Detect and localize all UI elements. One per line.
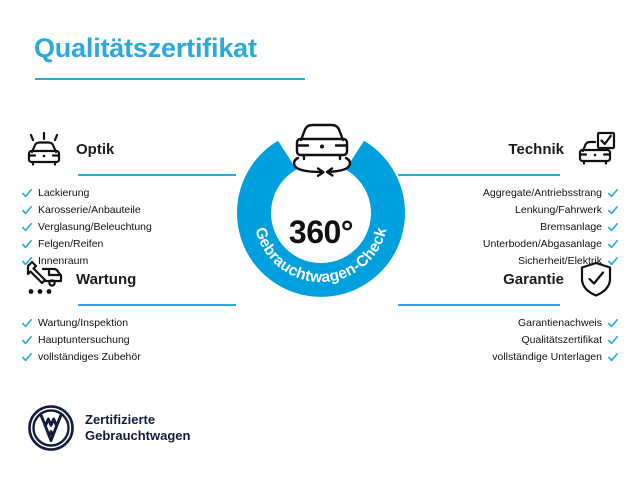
badge-center-label: 360° — [225, 214, 417, 251]
car-checkbox-icon — [574, 129, 618, 169]
list-item: Hauptuntersuchung — [22, 332, 237, 349]
list-item: Karosserie/Anbauteile — [22, 202, 237, 219]
section-garantie: Garantie Garantienachweis Qualitätszerti… — [398, 258, 618, 366]
section-wartung: Wartung Wartung/Inspektion Hauptuntersuc… — [22, 258, 237, 366]
list-item: Unterboden/Abgasanlage — [398, 236, 618, 253]
check-icon — [22, 188, 32, 199]
check-icon — [608, 222, 618, 233]
car-shine-icon — [22, 129, 66, 169]
list-item: vollständige Unterlagen — [398, 349, 618, 366]
section-wartung-title: Wartung — [76, 271, 136, 288]
section-technik-header: Technik — [398, 128, 618, 170]
check-icon — [608, 239, 618, 250]
section-optik-header: Optik — [22, 128, 237, 170]
list-item-label: Hauptuntersuchung — [38, 332, 130, 349]
list-item: vollständiges Zubehör — [22, 349, 237, 366]
section-wartung-rule — [78, 304, 236, 306]
list-item-label: Verglasung/Beleuchtung — [38, 219, 152, 236]
list-item-label: Bremsanlage — [540, 219, 602, 236]
section-technik-rule — [398, 174, 560, 176]
section-wartung-list: Wartung/Inspektion Hauptuntersuchung vol… — [22, 315, 237, 366]
section-wartung-header: Wartung — [22, 258, 237, 300]
page-title: Qualitätszertifikat — [34, 33, 257, 64]
volkswagen-logo — [28, 405, 74, 451]
list-item: Garantienachweis — [398, 315, 618, 332]
footer-brand: Zertifizierte Gebrauchtwagen — [28, 405, 190, 451]
section-optik-title: Optik — [76, 141, 114, 158]
check-icon — [22, 335, 32, 346]
list-item-label: Aggregate/Antriebsstrang — [483, 185, 602, 202]
list-item-label: vollständige Unterlagen — [492, 349, 602, 366]
list-item-label: Lenkung/Fahrwerk — [515, 202, 602, 219]
list-item: Wartung/Inspektion — [22, 315, 237, 332]
check-icon — [22, 318, 32, 329]
list-item: Lenkung/Fahrwerk — [398, 202, 618, 219]
list-item-label: Qualitätszertifikat — [521, 332, 602, 349]
list-item: Felgen/Reifen — [22, 236, 237, 253]
section-technik-title: Technik — [508, 141, 564, 158]
check-icon — [608, 352, 618, 363]
check-icon — [22, 205, 32, 216]
section-garantie-list: Garantienachweis Qualitätszertifikat vol… — [398, 315, 618, 366]
list-item-label: vollständiges Zubehör — [38, 349, 141, 366]
list-item: Aggregate/Antriebsstrang — [398, 185, 618, 202]
badge-360-gebrauchtwagen-check: Gebrauchtwagen-Check 360° — [225, 118, 417, 313]
list-item: Bremsanlage — [398, 219, 618, 236]
list-item-label: Felgen/Reifen — [38, 236, 103, 253]
title-underline — [35, 78, 305, 80]
list-item: Qualitätszertifikat — [398, 332, 618, 349]
footer-brand-text: Zertifizierte Gebrauchtwagen — [85, 412, 190, 444]
list-item: Lackierung — [22, 185, 237, 202]
list-item-label: Wartung/Inspektion — [38, 315, 128, 332]
car-rotate-360-icon — [284, 118, 360, 180]
section-technik: Technik Aggregate/Antriebsstrang Lenkung… — [398, 128, 618, 270]
list-item-label: Unterboden/Abgasanlage — [483, 236, 602, 253]
section-garantie-header: Garantie — [398, 258, 618, 300]
check-icon — [22, 352, 32, 363]
section-optik-rule — [78, 174, 236, 176]
list-item-label: Lackierung — [38, 185, 89, 202]
check-icon — [608, 188, 618, 199]
section-garantie-rule — [398, 304, 560, 306]
list-item: Verglasung/Beleuchtung — [22, 219, 237, 236]
check-icon — [608, 318, 618, 329]
shield-check-icon — [574, 259, 618, 299]
check-icon — [22, 222, 32, 233]
list-item-label: Karosserie/Anbauteile — [38, 202, 141, 219]
section-optik: Optik Lackierung Karosserie/Anbauteile V… — [22, 128, 237, 270]
check-icon — [608, 205, 618, 216]
car-wrench-service-icon — [22, 259, 66, 299]
section-garantie-title: Garantie — [503, 271, 564, 288]
check-icon — [22, 239, 32, 250]
check-icon — [608, 335, 618, 346]
list-item-label: Garantienachweis — [518, 315, 602, 332]
